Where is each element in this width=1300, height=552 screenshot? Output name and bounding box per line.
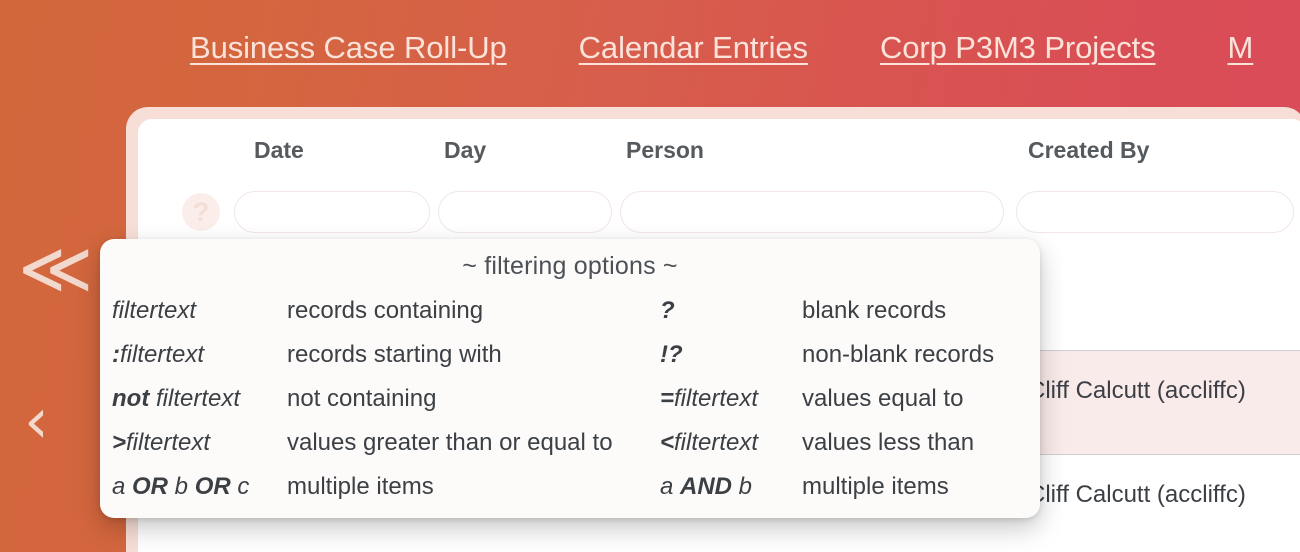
option-syntax: <filtertext	[660, 429, 758, 457]
tooltip-option-row: <filtertext values less than	[660, 423, 1040, 467]
option-syntax: =filtertext	[660, 385, 758, 413]
tooltip-option-row: ? blank records	[660, 291, 1040, 335]
column-header-day[interactable]: Day	[444, 137, 486, 164]
top-navigation-bar: Business Case Roll-Up Calendar Entries C…	[0, 0, 1300, 96]
nav-link-calendar-entries[interactable]: Calendar Entries	[579, 30, 808, 66]
option-syntax: filtertext	[112, 297, 196, 325]
filter-input-person[interactable]	[620, 191, 1004, 233]
tooltip-option-row: =filtertext values equal to	[660, 379, 1040, 423]
option-syntax: >filtertext	[112, 429, 210, 457]
tooltip-option-row: not filtertext not containing	[112, 379, 642, 423]
option-description: non-blank records	[802, 341, 994, 369]
option-description: values equal to	[802, 385, 963, 413]
tooltip-option-row: !? non-blank records	[660, 335, 1040, 379]
option-description: values greater than or equal to	[287, 429, 613, 457]
option-description: multiple items	[802, 473, 949, 501]
table-filter-row: ?	[138, 181, 1300, 247]
option-description: not containing	[287, 385, 436, 413]
tooltip-option-row: :filtertext records starting with	[112, 335, 642, 379]
tooltip-option-row: filtertext records containing	[112, 291, 642, 335]
filter-input-created-by[interactable]	[1016, 191, 1294, 233]
filtering-options-tooltip: ~ filtering options ~ filtertext records…	[100, 239, 1040, 518]
collapse-all-chevron-icon[interactable]: ≪	[18, 232, 87, 304]
option-description: records containing	[287, 297, 483, 325]
nav-link-truncated[interactable]: M	[1228, 30, 1254, 66]
app-window: Business Case Roll-Up Calendar Entries C…	[0, 0, 1300, 552]
option-syntax: :filtertext	[112, 341, 204, 369]
cell-created-by: Cliff Calcutt (accliffc)	[1028, 481, 1246, 509]
filter-help-question-mark-icon[interactable]: ?	[182, 193, 220, 231]
nav-link-business-case-roll-up[interactable]: Business Case Roll-Up	[190, 30, 507, 66]
nav-link-corp-p3m3-projects[interactable]: Corp P3M3 Projects	[880, 30, 1156, 66]
option-syntax: !?	[660, 341, 683, 369]
tooltip-right-column: ? blank records !? non-blank records =fi…	[660, 291, 1040, 511]
collapse-one-chevron-icon[interactable]: ‹	[24, 390, 49, 452]
column-header-person[interactable]: Person	[626, 137, 704, 164]
option-description: records starting with	[287, 341, 502, 369]
filter-input-day[interactable]	[438, 191, 612, 233]
option-syntax: ?	[660, 297, 675, 325]
filter-input-date[interactable]	[234, 191, 430, 233]
column-header-date[interactable]: Date	[254, 137, 304, 164]
option-syntax: not filtertext	[112, 385, 240, 413]
tooltip-option-row: a AND b multiple items	[660, 467, 1040, 511]
option-description: multiple items	[287, 473, 434, 501]
option-description: blank records	[802, 297, 946, 325]
tooltip-option-row: a OR b OR c multiple items	[112, 467, 642, 511]
column-header-created-by[interactable]: Created By	[1028, 137, 1149, 164]
cell-created-by: Cliff Calcutt (accliffc)	[1028, 377, 1246, 405]
tooltip-title: ~ filtering options ~	[100, 252, 1040, 281]
option-description: values less than	[802, 429, 974, 457]
tooltip-option-row: >filtertext values greater than or equal…	[112, 423, 642, 467]
tooltip-left-column: filtertext records containing :filtertex…	[112, 291, 642, 511]
table-header-row: Date Day Person Created By	[138, 119, 1300, 181]
option-syntax: a OR b OR c	[112, 473, 249, 501]
option-syntax: a AND b	[660, 473, 752, 501]
